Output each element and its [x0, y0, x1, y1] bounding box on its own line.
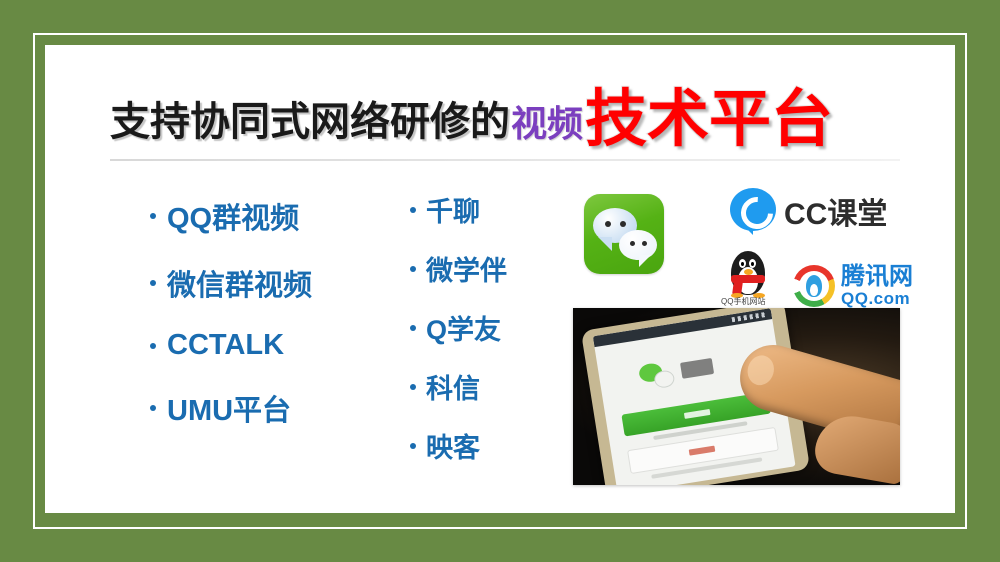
qq-caption-label: QQ手机网站 — [721, 296, 765, 307]
cc-bubble-icon — [730, 188, 776, 234]
platform-list-right: 千聊 微学伴 Q学友 科信 映客 — [410, 190, 507, 485]
eye-dot — [642, 241, 647, 246]
list-item-label: 映客 — [426, 426, 480, 465]
list-item[interactable]: Q学友 — [410, 308, 507, 347]
list-item-label: 科信 — [426, 367, 480, 406]
wechat-logo-small-icon — [638, 360, 676, 391]
speech-bubble-small-icon — [619, 230, 657, 260]
title-divider — [110, 159, 900, 161]
wechat-wordmark — [680, 358, 714, 379]
bullet-dot-icon — [410, 266, 416, 272]
title-part-black: 支持协同式网络研修的 — [110, 102, 510, 142]
list-item[interactable]: UMU平台 — [150, 387, 312, 429]
list-item[interactable]: 科信 — [410, 367, 507, 406]
list-item-label: 千聊 — [426, 190, 480, 229]
slide-canvas: 支持协同式网络研修的 视频 技术平台 QQ群视频 微信群视频 CCTALK UM… — [45, 45, 955, 513]
list-item-label: 微信群视频 — [167, 262, 312, 304]
tencent-logo: 腾讯网 QQ.com — [793, 265, 913, 307]
bubble-white — [653, 369, 675, 389]
page-title: 支持协同式网络研修的 视频 技术平台 — [110, 85, 833, 142]
penguin-eye — [739, 259, 746, 268]
bullet-dot-icon — [410, 207, 416, 213]
list-item[interactable]: 微学伴 — [410, 249, 507, 288]
bullet-dot-icon — [410, 443, 416, 449]
title-part-purple: 视频 — [511, 106, 583, 142]
bullet-dot-icon — [150, 343, 156, 349]
wechat-phone-photo — [573, 308, 900, 485]
list-item[interactable]: QQ群视频 — [150, 195, 312, 237]
list-item-label: UMU平台 — [167, 387, 291, 429]
bullet-dot-icon — [150, 280, 156, 286]
eye-dot — [630, 241, 635, 246]
list-item-label: 微学伴 — [426, 249, 507, 288]
list-item-label: CCTALK — [167, 329, 284, 362]
eye-dot — [605, 221, 611, 227]
bullet-dot-icon — [150, 213, 156, 219]
tencent-cn-label: 腾讯网 — [841, 265, 913, 289]
qq-tencent-logo-row: QQ手机网站 腾讯网 QQ.com — [713, 245, 913, 307]
list-item[interactable]: 映客 — [410, 426, 507, 465]
bullet-dot-icon — [150, 405, 156, 411]
title-part-red: 技术平台 — [585, 91, 833, 148]
eye-dot — [620, 221, 626, 227]
slide-root: 支持协同式网络研修的 视频 技术平台 QQ群视频 微信群视频 CCTALK UM… — [0, 0, 1000, 562]
tencent-en-label: QQ.com — [841, 290, 913, 307]
penguin-eye — [749, 259, 756, 268]
blue-penguin-glyph — [806, 275, 822, 297]
list-item[interactable]: 千聊 — [410, 190, 507, 229]
list-item[interactable]: CCTALK — [150, 329, 312, 362]
platform-list-left: QQ群视频 微信群视频 CCTALK UMU平台 — [150, 195, 312, 454]
wechat-icon — [584, 194, 664, 274]
list-item[interactable]: 微信群视频 — [150, 262, 312, 304]
tencent-wordmark: 腾讯网 QQ.com — [841, 265, 913, 307]
cc-classroom-label: CC课堂 — [784, 189, 887, 233]
bullet-dot-icon — [410, 325, 416, 331]
qq-penguin-icon: QQ手机网站 — [713, 245, 783, 307]
tencent-ring-icon — [793, 265, 835, 307]
cc-classroom-logo: CC课堂 — [730, 188, 887, 234]
bullet-dot-icon — [410, 384, 416, 390]
list-item-label: Q学友 — [426, 308, 501, 347]
list-item-label: QQ群视频 — [167, 195, 299, 237]
